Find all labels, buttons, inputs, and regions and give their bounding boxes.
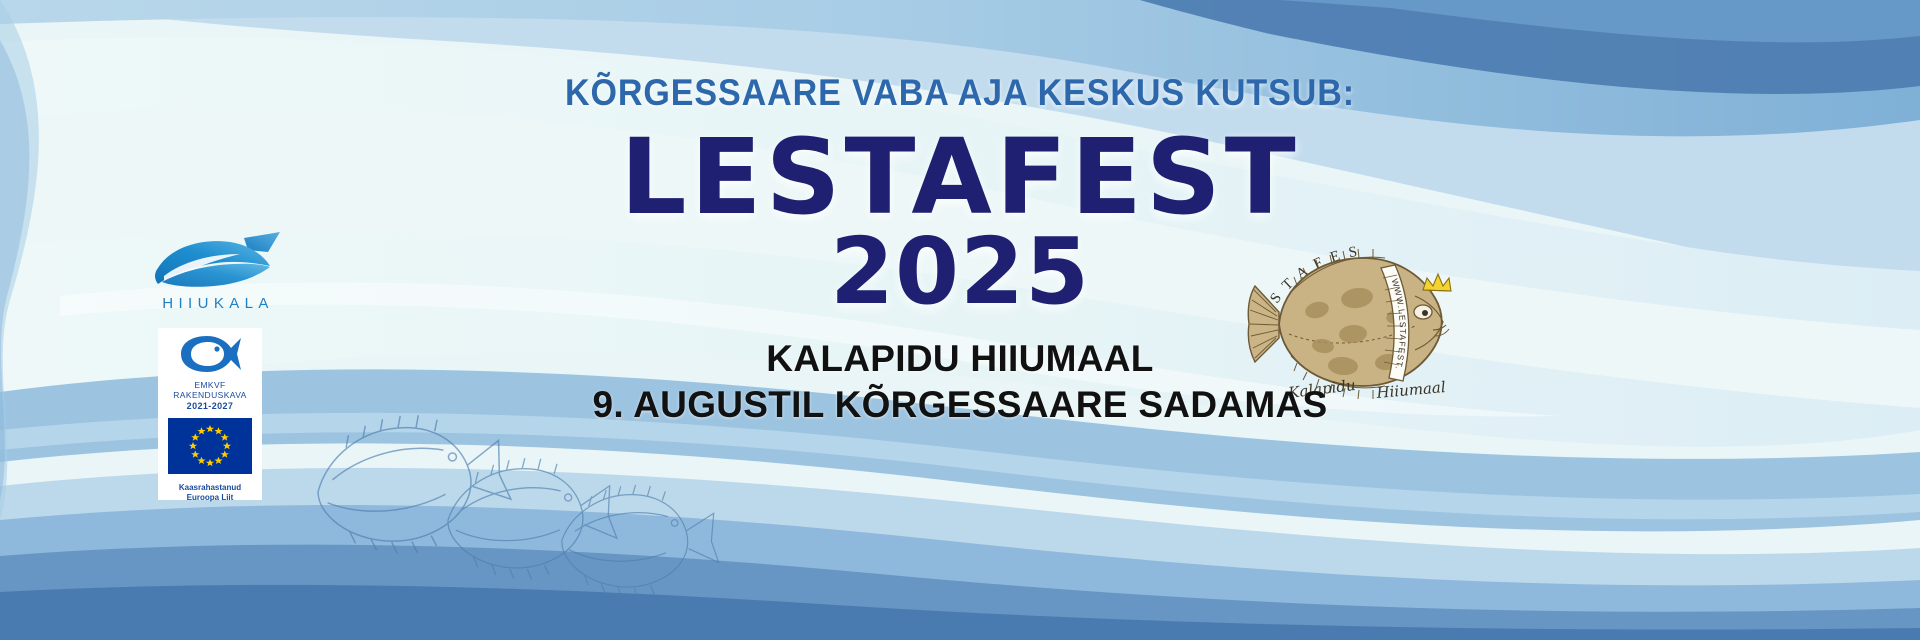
subtitle-line-1: KALAPIDU HIIUMAAL xyxy=(0,338,1920,380)
event-year: 2025 xyxy=(0,226,1920,318)
eu-caption-line-1: Kaasrahastanud xyxy=(158,483,262,493)
eu-flag-icon xyxy=(168,418,252,474)
event-title: LESTAFEST xyxy=(0,128,1920,228)
subtitle-line-2: 9. AUGUSTIL KÕRGESSAARE SADAMAS xyxy=(0,384,1920,426)
event-banner: HIIUKALA EMKVF RAKENDUSKAVA 2021-2027 xyxy=(0,0,1920,640)
invitation-headline: KÕRGESSAARE VABA AJA KESKUS KUTSUB: xyxy=(77,72,1843,114)
eu-caption-line-2: Euroopa Liit xyxy=(158,493,262,503)
eu-flag-wrapper xyxy=(158,418,262,479)
eu-funding-caption: Kaasrahastanud Euroopa Liit xyxy=(158,483,262,503)
